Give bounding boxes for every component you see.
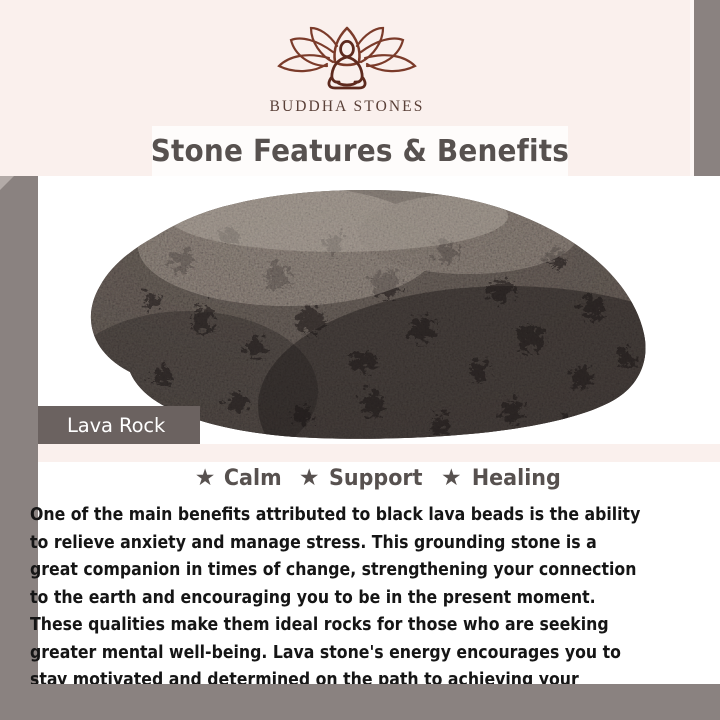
page-title: Stone Features & Benefits <box>151 134 569 169</box>
frame-right-edge <box>694 0 720 176</box>
star-icon: ★ <box>195 466 216 489</box>
photo-panel <box>38 176 720 444</box>
lava-rock-photo <box>38 176 720 444</box>
frame-bottom-band <box>0 684 720 720</box>
feature-list: ★ Calm ★ Support ★ Healing <box>38 466 720 491</box>
feature-label: Healing <box>471 466 560 491</box>
star-icon: ★ <box>441 466 462 489</box>
feature-item-support: ★ Support <box>299 466 426 491</box>
frame-left-fold <box>0 176 38 444</box>
content-panel: ★ Calm ★ Support ★ Healing One of the ma… <box>38 444 720 684</box>
photo-caption: Lava Rock <box>38 406 200 444</box>
brand-name: BUDDHA STONES <box>0 98 694 116</box>
star-icon: ★ <box>299 466 320 489</box>
stone-features-infographic: BUDDHA STONES Stone Features & Benefits <box>0 0 720 720</box>
photo-caption-label: Lava Rock <box>38 414 165 437</box>
content-panel-tint-strip <box>38 444 720 462</box>
feature-label: Calm <box>224 466 282 491</box>
feature-item-healing: ★ Healing <box>441 466 563 491</box>
feature-item-calm: ★ Calm <box>195 466 284 491</box>
lava-rock-image <box>38 176 720 444</box>
brand-logo: BUDDHA STONES <box>0 22 694 116</box>
feature-label: Support <box>329 466 423 491</box>
title-banner: Stone Features & Benefits <box>152 126 568 176</box>
lotus-meditation-icon <box>267 22 427 94</box>
